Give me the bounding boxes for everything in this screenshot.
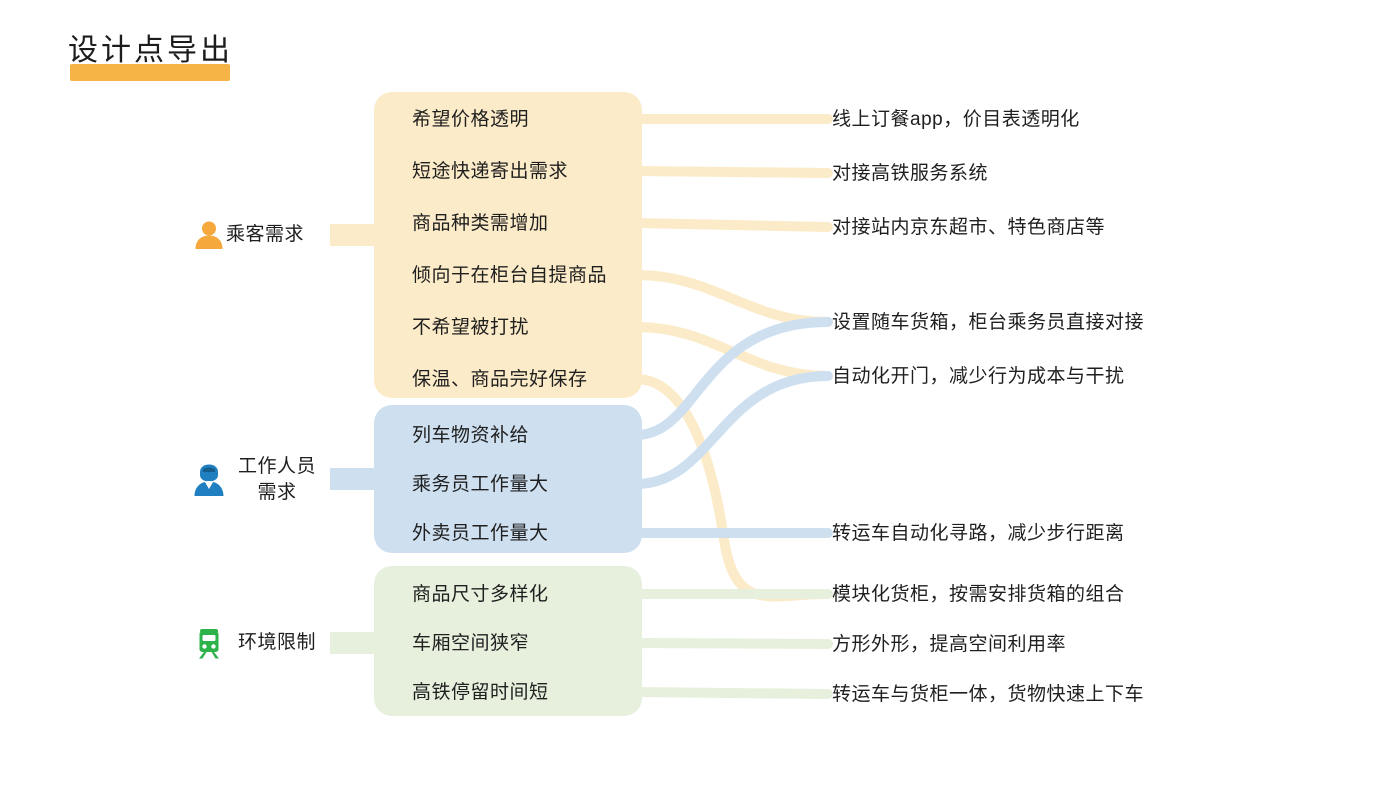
category-staff[interactable]: 工作人员 需求 [192,454,316,505]
item-passenger-2[interactable]: 商品种类需增加 [412,214,549,233]
output-out8[interactable]: 方形外形，提高空间利用率 [832,635,1066,654]
output-out1[interactable]: 线上订餐app，价目表透明化 [832,110,1080,129]
category-passenger[interactable]: 乘客需求 [192,218,304,252]
item-staff-0[interactable]: 列车物资补给 [412,426,529,445]
link-passenger-3-out4 [636,275,828,322]
output-out9[interactable]: 转运车与货柜一体，货物快速上下车 [832,685,1144,704]
group-box-passenger[interactable] [374,92,642,398]
link-environment-2-out9 [636,692,828,694]
output-out2[interactable]: 对接高铁服务系统 [832,164,988,183]
category-label-environment: 环境限制 [238,630,316,656]
link-passenger-2-out3 [636,223,828,227]
output-out3[interactable]: 对接站内京东超市、特色商店等 [832,218,1105,237]
item-environment-0[interactable]: 商品尺寸多样化 [412,585,549,604]
item-passenger-0[interactable]: 希望价格透明 [412,110,529,129]
diagram-canvas: 设计点导出 希望价格透明 短途快递寄出需求 商品种类需增加 倾向于在柜台自提商品… [0,0,1400,788]
category-environment[interactable]: 环境限制 [192,626,316,660]
item-passenger-5[interactable]: 保温、商品完好保存 [412,370,588,389]
staff-person-icon [192,463,226,497]
item-passenger-3[interactable]: 倾向于在柜台自提商品 [412,266,607,285]
link-passenger-1-out2 [636,171,828,173]
connector-layer [0,0,1400,788]
output-out7[interactable]: 模块化货柜，按需安排货箱的组合 [832,585,1125,604]
output-out4[interactable]: 设置随车货箱，柜台乘务员直接对接 [832,313,1144,332]
item-environment-1[interactable]: 车厢空间狭窄 [412,634,529,653]
category-label-passenger: 乘客需求 [226,222,304,248]
output-out6[interactable]: 转运车自动化寻路，减少步行距离 [832,524,1125,543]
category-label-staff: 工作人员 需求 [238,454,316,505]
item-passenger-4[interactable]: 不希望被打扰 [412,318,529,337]
item-staff-1[interactable]: 乘务员工作量大 [412,475,549,494]
item-passenger-1[interactable]: 短途快递寄出需求 [412,162,568,181]
person-icon [192,218,226,252]
output-out5[interactable]: 自动化开门，减少行为成本与干扰 [832,367,1125,386]
train-icon [192,626,226,660]
item-environment-2[interactable]: 高铁停留时间短 [412,683,549,702]
item-staff-2[interactable]: 外卖员工作量大 [412,524,549,543]
link-environment-1-out8 [636,643,828,644]
